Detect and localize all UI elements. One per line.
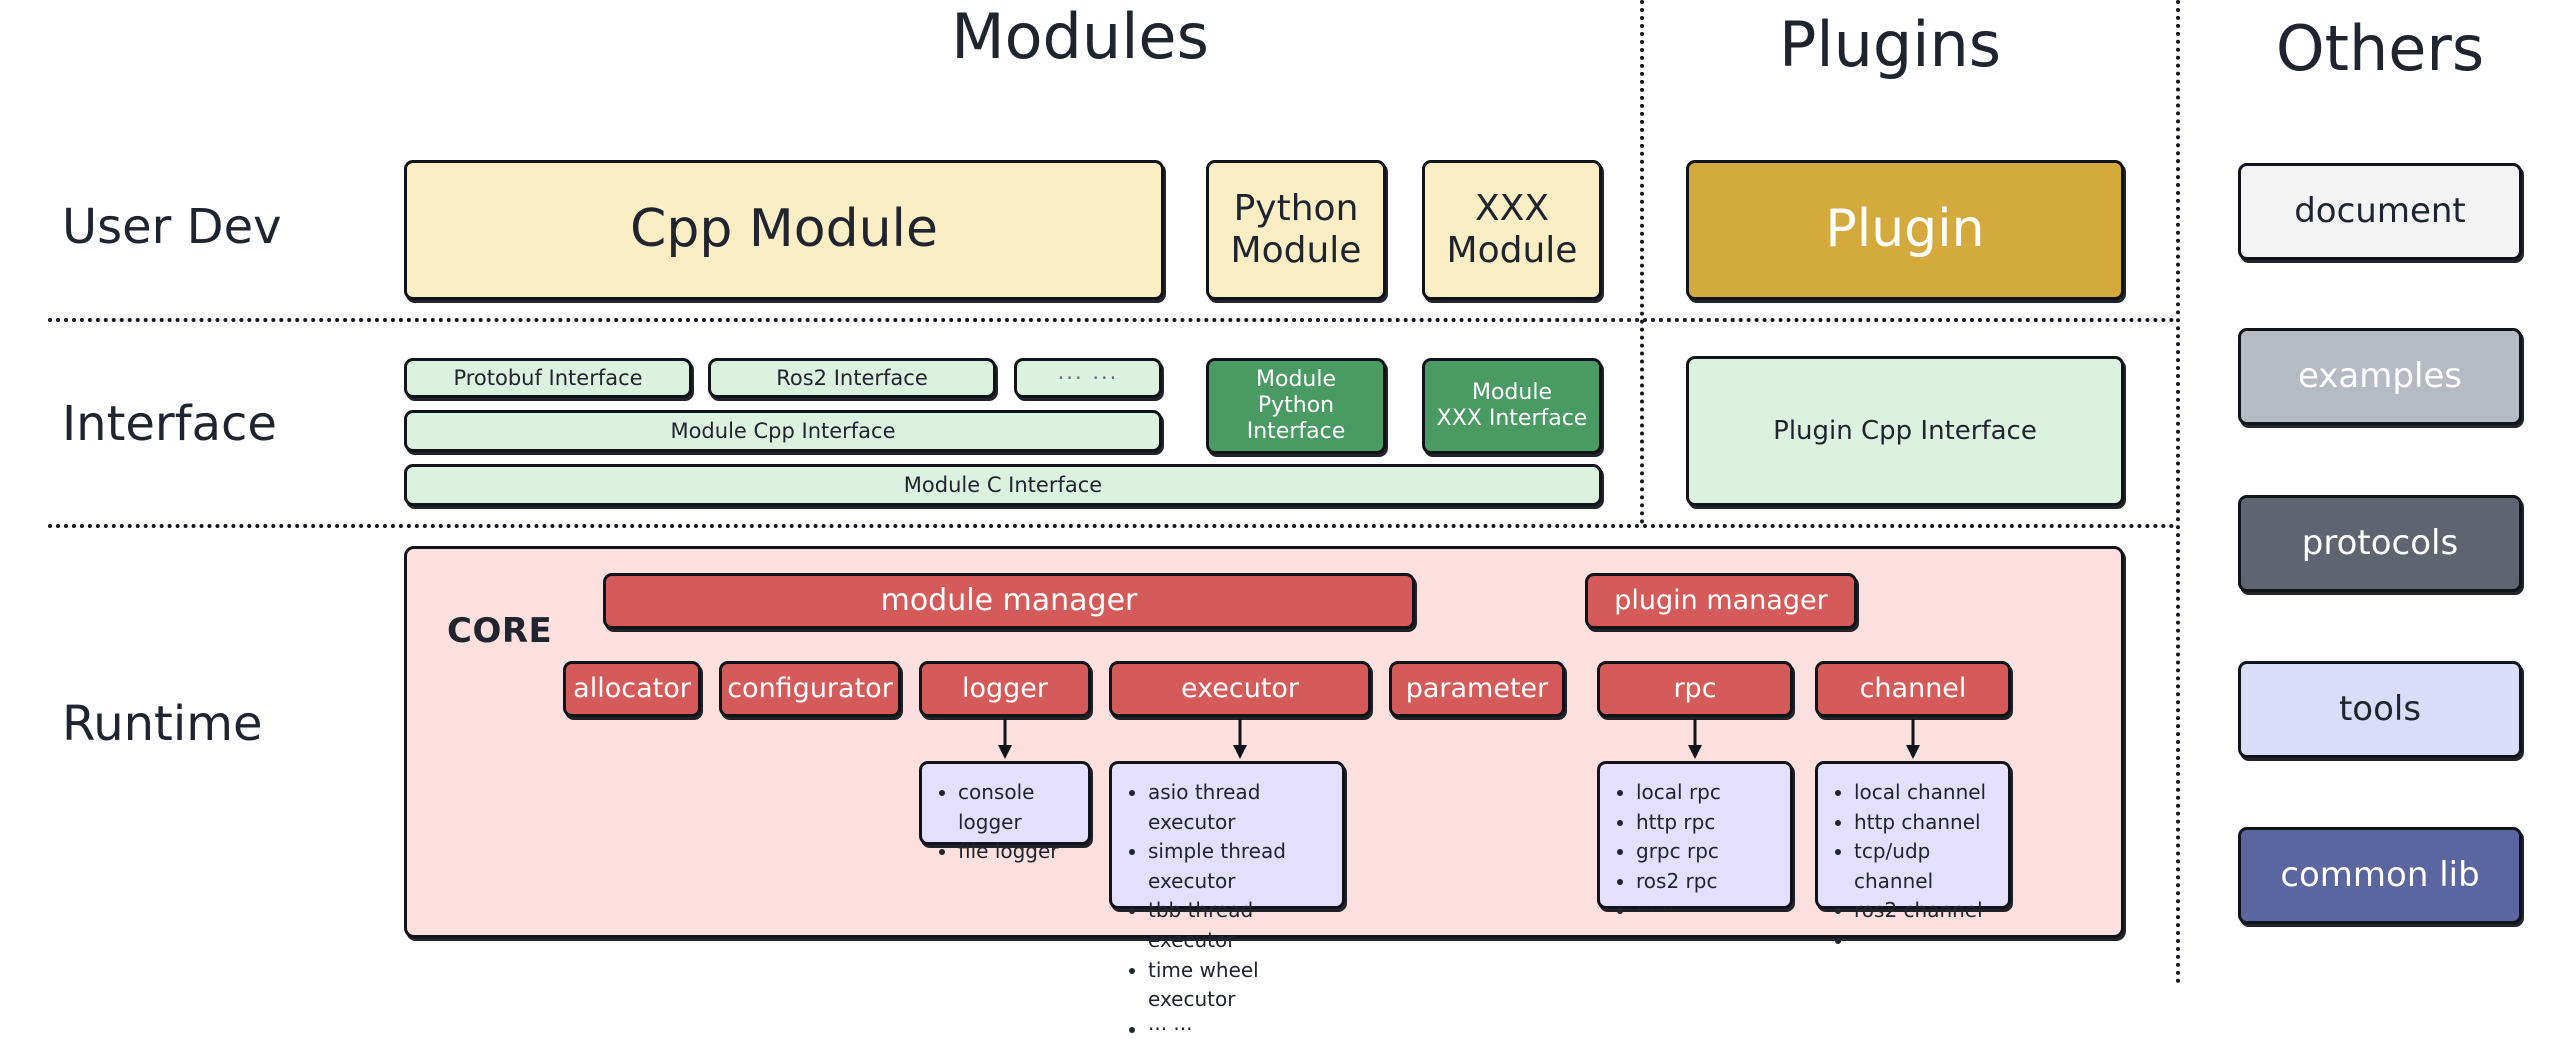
list-item: time wheel executor xyxy=(1148,956,1332,1015)
list-item: asio thread executor xyxy=(1148,778,1332,837)
list-channel-implementations: local channelhttp channeltcp/udp channel… xyxy=(1815,761,2011,909)
list-item: http rpc xyxy=(1636,808,1780,838)
node-channel-label: channel xyxy=(1860,673,1967,705)
list-executor-implementations: asio thread executorsimple thread execut… xyxy=(1109,761,1345,909)
node-others-tools-label: tools xyxy=(2339,689,2421,729)
node-protobuf-interface[interactable]: Protobuf Interface xyxy=(404,358,692,398)
column-title-modules: Modules xyxy=(880,6,1280,68)
node-module-xxx-interface-label-line2: XXX Interface xyxy=(1437,406,1588,432)
row-label-runtime: Runtime xyxy=(62,700,262,748)
node-plugin[interactable]: Plugin xyxy=(1686,160,2124,300)
node-module-python-interface-label-line2: Python Interface xyxy=(1209,393,1383,445)
node-others-common-lib[interactable]: common lib xyxy=(2238,827,2522,924)
node-configurator-label: configurator xyxy=(727,673,893,705)
node-xxx-module[interactable]: XXX Module xyxy=(1422,160,1602,300)
node-cpp-module-label: Cpp Module xyxy=(630,199,938,260)
node-module-python-interface-label-line1: Module xyxy=(1209,367,1383,393)
node-more-interfaces[interactable]: ··· ··· xyxy=(1014,358,1162,398)
list-item: ··· ··· xyxy=(1854,926,1998,956)
list-item: grpc rpc xyxy=(1636,837,1780,867)
node-allocator[interactable]: allocator xyxy=(563,661,701,717)
node-module-cpp-interface-label: Module Cpp Interface xyxy=(670,419,895,444)
node-channel[interactable]: channel xyxy=(1815,661,2011,717)
node-plugin-label: Plugin xyxy=(1825,199,1984,260)
node-plugin-cpp-interface-label: Plugin Cpp Interface xyxy=(1773,416,2037,447)
node-plugin-manager[interactable]: plugin manager xyxy=(1585,573,1857,629)
node-parameter-label: parameter xyxy=(1406,673,1549,705)
list-channel-items: local channelhttp channeltcp/udp channel… xyxy=(1832,778,1998,956)
node-module-xxx-interface-label-line1: Module xyxy=(1437,380,1588,406)
node-python-module[interactable]: Python Module xyxy=(1206,160,1386,300)
node-others-protocols[interactable]: protocols xyxy=(2238,495,2522,592)
node-others-examples[interactable]: examples xyxy=(2238,328,2522,425)
list-logger-implementations: console loggerfile logger xyxy=(919,761,1091,845)
list-rpc-implementations: local rpchttp rpcgrpc rpcros2 rpc··· ··· xyxy=(1597,761,1793,909)
core-panel: CORE module manager plugin manager alloc… xyxy=(404,546,2124,938)
node-protobuf-interface-label: Protobuf Interface xyxy=(453,366,642,391)
column-title-others: Others xyxy=(2210,18,2550,80)
list-item: console logger xyxy=(958,778,1078,837)
divider-plugins-others xyxy=(2176,0,2180,984)
arrow-executor-down-icon xyxy=(1228,719,1252,761)
node-module-python-interface[interactable]: Module Python Interface xyxy=(1206,358,1386,454)
node-module-xxx-interface[interactable]: Module XXX Interface xyxy=(1422,358,1602,454)
list-rpc-items: local rpchttp rpcgrpc rpcros2 rpc··· ··· xyxy=(1614,778,1780,926)
list-item: tbb thread executor xyxy=(1148,896,1332,955)
list-executor-items: asio thread executorsimple thread execut… xyxy=(1126,778,1332,1044)
node-others-document-label: document xyxy=(2294,191,2466,231)
list-item: file logger xyxy=(958,837,1078,867)
node-module-manager-label: module manager xyxy=(881,583,1138,618)
architecture-diagram: Modules Plugins Others User Dev Interfac… xyxy=(0,0,2560,984)
divider-userdev-interface xyxy=(48,318,2176,322)
node-xxx-module-label-line1: XXX xyxy=(1447,188,1578,230)
arrow-rpc-down-icon xyxy=(1683,719,1707,761)
node-xxx-module-label-line2: Module xyxy=(1447,230,1578,272)
list-item: http channel xyxy=(1854,808,1998,838)
list-logger-items: console loggerfile logger xyxy=(936,778,1078,867)
node-others-examples-label: examples xyxy=(2298,356,2462,396)
node-allocator-label: allocator xyxy=(573,673,691,705)
node-ros2-interface-label: Ros2 Interface xyxy=(776,366,928,391)
node-others-tools[interactable]: tools xyxy=(2238,661,2522,758)
list-item: local channel xyxy=(1854,778,1998,808)
list-item: ros2 channel xyxy=(1854,896,1998,926)
core-label: CORE xyxy=(447,611,552,651)
node-plugin-cpp-interface[interactable]: Plugin Cpp Interface xyxy=(1686,356,2124,506)
node-rpc-label: rpc xyxy=(1673,673,1716,705)
node-logger-label: logger xyxy=(962,673,1048,705)
node-more-interfaces-label: ··· ··· xyxy=(1058,366,1119,391)
list-item: tcp/udp channel xyxy=(1854,837,1998,896)
node-python-module-label-line2: Module xyxy=(1231,230,1362,272)
node-others-document[interactable]: document xyxy=(2238,163,2522,260)
node-others-common-lib-label: common lib xyxy=(2280,855,2479,895)
node-module-c-interface[interactable]: Module C Interface xyxy=(404,464,1602,506)
list-item: ros2 rpc xyxy=(1636,867,1780,897)
node-module-c-interface-label: Module C Interface xyxy=(904,473,1102,498)
list-item: local rpc xyxy=(1636,778,1780,808)
node-parameter[interactable]: parameter xyxy=(1389,661,1565,717)
node-python-module-label-line1: Python xyxy=(1231,188,1362,230)
list-item: ··· ··· xyxy=(1148,1015,1332,1044)
row-label-user-dev: User Dev xyxy=(62,203,282,251)
divider-modules-plugins xyxy=(1640,0,1644,524)
divider-interface-runtime xyxy=(48,524,2176,528)
node-executor[interactable]: executor xyxy=(1109,661,1371,717)
node-logger[interactable]: logger xyxy=(919,661,1091,717)
node-cpp-module[interactable]: Cpp Module xyxy=(404,160,1164,300)
arrow-channel-down-icon xyxy=(1901,719,1925,761)
node-module-manager[interactable]: module manager xyxy=(603,573,1415,629)
node-module-cpp-interface[interactable]: Module Cpp Interface xyxy=(404,410,1162,452)
node-rpc[interactable]: rpc xyxy=(1597,661,1793,717)
node-plugin-manager-label: plugin manager xyxy=(1614,585,1827,617)
node-others-protocols-label: protocols xyxy=(2302,523,2458,563)
node-ros2-interface[interactable]: Ros2 Interface xyxy=(708,358,996,398)
column-title-plugins: Plugins xyxy=(1650,14,2130,76)
node-executor-label: executor xyxy=(1181,673,1299,705)
node-configurator[interactable]: configurator xyxy=(719,661,901,717)
list-item: simple thread executor xyxy=(1148,837,1332,896)
arrow-logger-down-icon xyxy=(993,719,1017,761)
list-item: ··· ··· xyxy=(1636,896,1780,926)
row-label-interface: Interface xyxy=(62,400,277,448)
